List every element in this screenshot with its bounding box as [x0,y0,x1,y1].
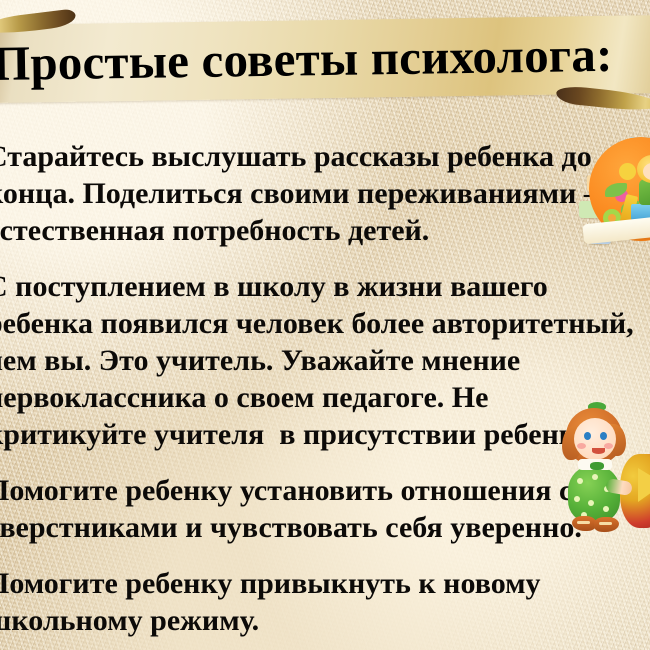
title-banner: Простые советы психолога: [0,14,650,106]
dress-dot [603,506,609,512]
shoelace-left [577,521,590,524]
schoolgirl-with-backpack-icon [548,402,650,536]
eye-right [600,432,607,440]
badge-flower [619,163,636,180]
orange-school-badge-icon [575,131,650,249]
eye-left [584,432,591,440]
page-title: Простые советы психолога: [0,15,650,103]
badge-child-body [639,179,650,205]
dress-dot [577,478,583,484]
cheek-left [577,443,586,449]
cheek-right [604,443,613,449]
presentation-slide: Простые советы психолога: Старайтесь выс… [0,0,650,650]
tip-paragraph: Старайтесь выслушать рассказы ребенка до… [0,138,650,249]
shoelace-right [599,522,612,525]
dress-dot [574,496,580,502]
mouth [592,448,605,454]
dress-dot [588,500,594,506]
tip-paragraph: Помогите ребенку привыкнуть к новому шко… [0,565,650,639]
neck-bow [590,462,604,470]
tips-list: Старайтесь выслушать рассказы ребенка до… [0,138,650,639]
dress-dot [592,474,598,480]
